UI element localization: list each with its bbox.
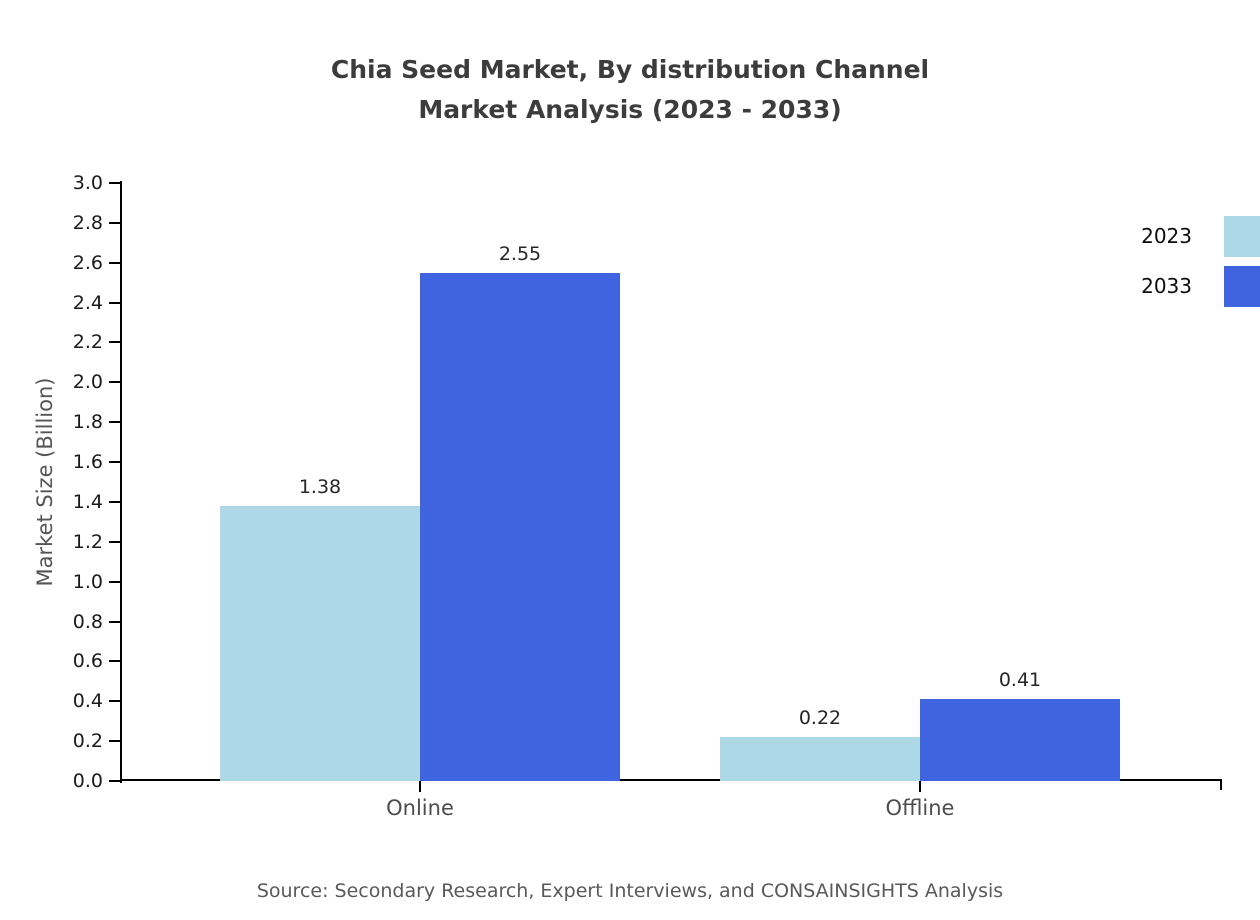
x-tick-label-offline: Offline xyxy=(886,796,955,820)
y-tick-mark xyxy=(109,660,122,662)
y-tick-mark xyxy=(109,182,122,184)
y-tick-label: 1.6 xyxy=(73,453,103,472)
y-tick-mark xyxy=(109,262,122,264)
bar-online-2023[interactable] xyxy=(220,506,420,781)
y-tick-label: 2.8 xyxy=(73,214,103,233)
y-tick-label: 1.2 xyxy=(73,533,103,552)
bar-value-label-online-2023: 1.38 xyxy=(299,478,341,497)
y-tick-mark xyxy=(109,421,122,423)
y-tick-mark xyxy=(109,501,122,503)
y-tick-mark xyxy=(109,581,122,583)
y-tick-label: 1.0 xyxy=(73,573,103,592)
bar-value-label-offline-2023: 0.22 xyxy=(799,709,841,728)
y-tick-mark xyxy=(109,780,122,782)
legend-label-2023: 2023 xyxy=(1141,226,1192,246)
x-tick-mark xyxy=(419,781,421,792)
bar-offline-2033[interactable] xyxy=(920,699,1120,781)
legend-swatch-2033 xyxy=(1224,266,1260,307)
legend-swatch-2023 xyxy=(1224,216,1260,257)
bar-online-2033[interactable] xyxy=(420,273,620,781)
y-axis-spine xyxy=(120,181,122,783)
y-tick-mark xyxy=(109,740,122,742)
bar-value-label-offline-2033: 0.41 xyxy=(999,671,1041,690)
y-tick-mark xyxy=(109,461,122,463)
y-tick-mark xyxy=(109,541,122,543)
y-tick-label: 2.4 xyxy=(73,294,103,313)
bar-value-label-online-2033: 2.55 xyxy=(499,245,541,264)
y-tick-label: 3.0 xyxy=(73,174,103,193)
legend-label-2033: 2033 xyxy=(1141,276,1192,296)
legend-item-2033[interactable]: 2033 xyxy=(1100,262,1260,312)
legend: 2023 2033 xyxy=(1100,212,1260,312)
legend-item-2023[interactable]: 2023 xyxy=(1100,212,1260,262)
chart-title-line-2: Market Analysis (2023 - 2033) xyxy=(0,90,1260,130)
y-tick-mark xyxy=(109,700,122,702)
y-tick-label: 1.4 xyxy=(73,493,103,512)
y-tick-label: 0.8 xyxy=(73,613,103,632)
y-tick-label: 2.2 xyxy=(73,333,103,352)
y-tick-label: 0.0 xyxy=(73,772,103,791)
bar-offline-2023[interactable] xyxy=(720,737,920,781)
x-axis-end-tick xyxy=(1220,779,1222,790)
y-tick-label: 0.2 xyxy=(73,732,103,751)
y-tick-mark xyxy=(109,302,122,304)
y-axis-title: Market Size (Billion) xyxy=(34,183,56,781)
chart-title-line-1: Chia Seed Market, By distribution Channe… xyxy=(331,55,929,84)
y-tick-label: 2.6 xyxy=(73,254,103,273)
y-tick-label: 2.0 xyxy=(73,373,103,392)
y-tick-mark xyxy=(109,621,122,623)
page-title: Chia Seed Market, By distribution Channe… xyxy=(0,50,1260,130)
y-tick-label: 1.8 xyxy=(73,413,103,432)
y-tick-mark xyxy=(109,381,122,383)
x-tick-mark xyxy=(919,781,921,792)
y-tick-mark xyxy=(109,222,122,224)
y-tick-mark xyxy=(109,341,122,343)
x-tick-label-online: Online xyxy=(386,796,454,820)
y-tick-label: 0.6 xyxy=(73,652,103,671)
y-tick-label: 0.4 xyxy=(73,692,103,711)
source-note: Source: Secondary Research, Expert Inter… xyxy=(0,879,1260,903)
